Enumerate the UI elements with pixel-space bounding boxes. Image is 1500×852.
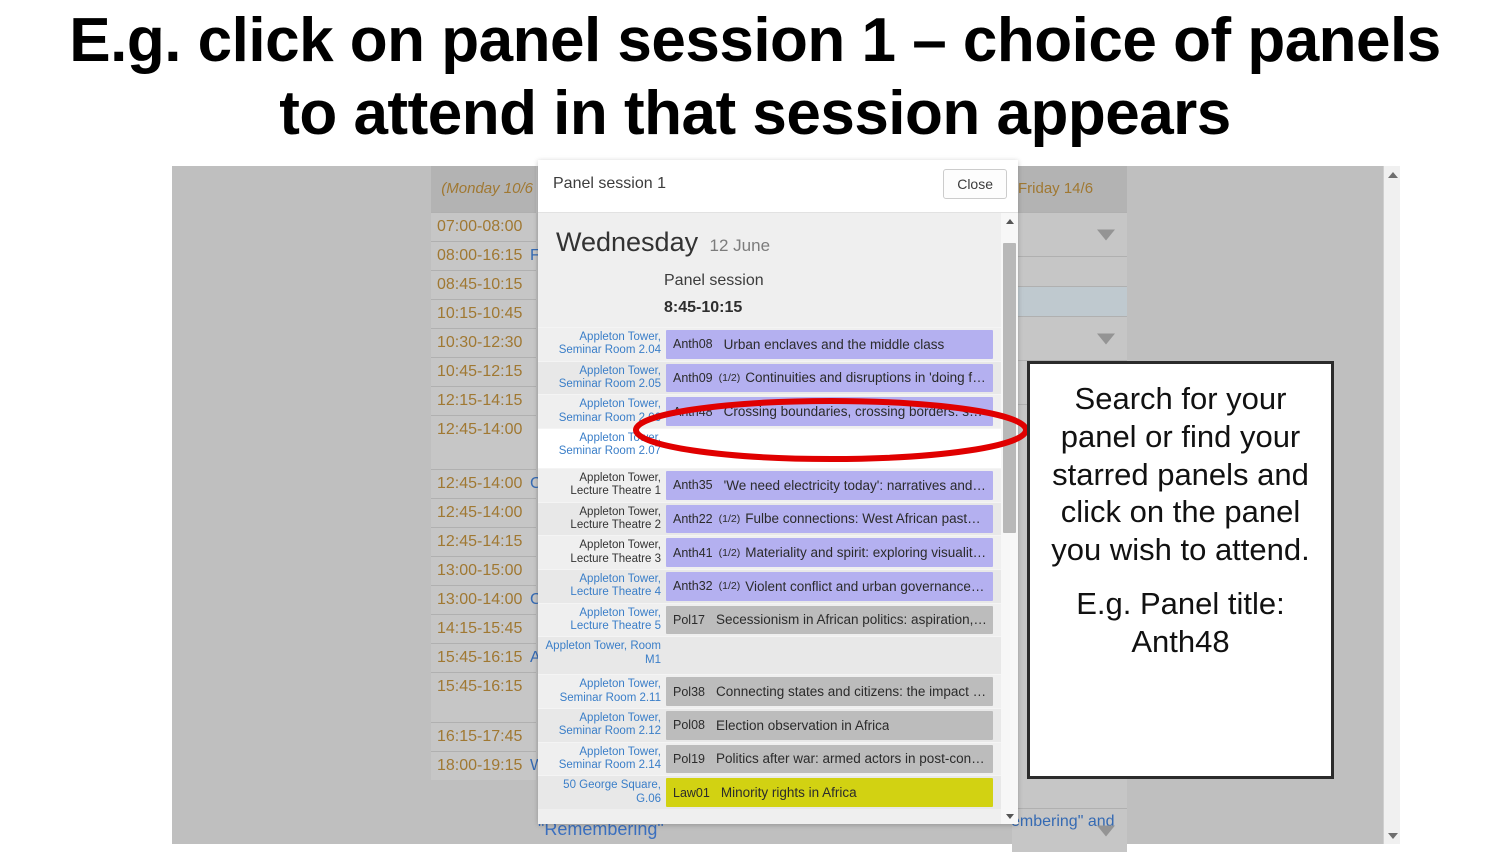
- panel-code: Anth22: [673, 512, 713, 526]
- panel-list-item[interactable]: Appleton Tower, Seminar Room 2.04 Anth08…: [538, 327, 1001, 361]
- panel-code: Pol17: [673, 613, 705, 627]
- callout-text-primary: Search for your panel or find your starr…: [1044, 380, 1317, 569]
- panel-bar[interactable]: Pol19 Politics after war: armed actors i…: [666, 745, 993, 774]
- time-slot-row[interactable]: 12:45-14:00 C: [431, 469, 536, 498]
- time-slot-label: 10:30-12:30: [437, 334, 522, 351]
- time-slot-row[interactable]: 16:15-17:45: [431, 722, 536, 751]
- panel-code: Anth08: [673, 337, 713, 351]
- day-cell[interactable]: [1012, 212, 1127, 256]
- modal-scroll-content: Wednesday 12 June Panel session 8:45-10:…: [538, 213, 1001, 824]
- panel-list-item[interactable]: Appleton Tower, Lecture Theatre 3 Anth41…: [538, 535, 1001, 569]
- panel-session-modal: Panel session 1 Close Wednesday 12 June …: [538, 160, 1018, 824]
- chevron-down-icon[interactable]: [1097, 825, 1115, 836]
- panel-bar-empty: [666, 639, 993, 672]
- day-date: 12 June: [710, 236, 771, 255]
- panel-room-link[interactable]: Appleton Tower, Lecture Theatre 4: [538, 570, 666, 603]
- time-slot-row[interactable]: 08:00-16:15 F: [431, 241, 536, 270]
- time-slot-row[interactable]: 18:00-19:15 W: [431, 751, 536, 780]
- panel-room-link[interactable]: 50 George Square, G.06: [538, 776, 666, 809]
- panel-title: Minority rights in Africa: [721, 785, 857, 800]
- time-slot-label: 16:15-17:45: [437, 728, 522, 745]
- scroll-down-icon[interactable]: [1001, 808, 1018, 824]
- time-slot-label: 18:00-19:15: [437, 757, 522, 774]
- time-slot-label: 12:45-14:15: [437, 533, 522, 550]
- time-slot-label: 12:45-14:00: [437, 421, 522, 438]
- panel-room-link[interactable]: Appleton Tower, Lecture Theatre 5: [538, 604, 666, 637]
- panel-bar-empty: [666, 431, 993, 466]
- time-slot-row[interactable]: 10:15-10:45: [431, 299, 536, 328]
- scrollbar-thumb[interactable]: [1003, 243, 1016, 533]
- time-slot-row[interactable]: 10:45-12:15: [431, 357, 536, 386]
- panel-room-link[interactable]: Appleton Tower, Seminar Room 2.12: [538, 709, 666, 742]
- panel-bar[interactable]: Anth22 (1/2) Fulbe connections: West Afr…: [666, 505, 993, 534]
- time-slot-label: 12:15-14:15: [437, 392, 522, 409]
- time-slot-label: 08:00-16:15: [437, 247, 522, 264]
- panel-room-label[interactable]: Appleton Tower, Lecture Theatre 1: [538, 469, 666, 502]
- panel-title: 'We need electricity today': narratives …: [724, 478, 987, 493]
- panel-code: Anth35: [673, 478, 713, 492]
- panel-list-item[interactable]: Appleton Tower, Seminar Room 2.14 Pol19 …: [538, 742, 1001, 776]
- panel-list-item[interactable]: Appleton Tower, Lecture Theatre 4 Anth32…: [538, 569, 1001, 603]
- day-cell[interactable]: [1012, 316, 1127, 360]
- panel-code: Anth41: [673, 546, 713, 560]
- time-slot-row[interactable]: 15:45-16:15 A: [431, 643, 536, 672]
- time-slot-label: 14:15-15:45: [437, 620, 522, 637]
- panel-bar[interactable]: Pol08 Election observation in Africa: [666, 711, 993, 740]
- panel-room-link[interactable]: Appleton Tower, Seminar Room 2.07: [538, 429, 666, 468]
- time-slot-row[interactable]: 12:45-14:00: [431, 415, 536, 469]
- panel-title: Materiality and spirit: exploring visual…: [745, 545, 987, 560]
- panel-part: (1/2): [719, 580, 741, 592]
- time-column-header: (Monday 10/6: [431, 166, 536, 212]
- modal-body: Wednesday 12 June Panel session 8:45-10:…: [538, 213, 1018, 824]
- time-slot-row[interactable]: 12:45-14:15: [431, 527, 536, 556]
- day-cell[interactable]: embering" and: [1012, 808, 1127, 852]
- panel-title: Crossing boundaries, crossing borders: s…: [724, 404, 987, 419]
- panel-list-item-highlighted[interactable]: Appleton Tower, Seminar Room 2.06 Anth48…: [538, 394, 1001, 428]
- panel-title: Continuities and disruptions in 'doing f…: [745, 370, 985, 385]
- callout-box: Search for your panel or find your starr…: [1027, 361, 1334, 779]
- callout-text-secondary: E.g. Panel title: Anth48: [1044, 585, 1317, 661]
- panel-title: Fulbe connections: West African pastor…: [745, 511, 987, 526]
- time-slot-row[interactable]: 14:15-15:45: [431, 614, 536, 643]
- panel-room-label[interactable]: Appleton Tower, Lecture Theatre 3: [538, 536, 666, 569]
- panel-bar[interactable]: Anth09 (1/2) Continuities and disruption…: [666, 364, 993, 393]
- time-slot-label: 13:00-15:00: [437, 562, 522, 579]
- panel-code: Anth48: [673, 405, 713, 419]
- panel-list-item[interactable]: Appleton Tower, Seminar Room 2.11 Pol38 …: [538, 674, 1001, 708]
- time-slot-row[interactable]: 12:15-14:15: [431, 386, 536, 415]
- panel-part: (1/2): [719, 547, 741, 559]
- modal-scrollbar[interactable]: [1001, 213, 1018, 824]
- panel-title: Election observation in Africa: [716, 718, 889, 733]
- session-type-label: Panel session: [538, 264, 1001, 290]
- panel-list-item[interactable]: 50 George Square, G.06 Law01 Minority ri…: [538, 775, 1001, 809]
- panel-list-item[interactable]: Appleton Tower, Seminar Room 2.07: [538, 428, 1001, 468]
- chevron-down-icon[interactable]: [1097, 333, 1115, 344]
- scroll-up-icon[interactable]: [1384, 166, 1401, 183]
- modal-header: Panel session 1 Close: [538, 160, 1018, 213]
- day-cell[interactable]: [1012, 286, 1127, 316]
- panel-code: Anth32: [673, 579, 713, 593]
- panel-bar[interactable]: Pol17 Secessionism in African politics: …: [666, 606, 993, 635]
- panel-code: Pol08: [673, 718, 705, 732]
- time-slot-label: 15:45-16:15: [437, 678, 522, 695]
- panel-list-item[interactable]: Appleton Tower, Room M1: [538, 636, 1001, 674]
- day-column-header: Friday 14/6: [1012, 166, 1127, 212]
- panel-code: Law01: [673, 786, 710, 800]
- panel-room-label[interactable]: Appleton Tower, Lecture Theatre 2: [538, 503, 666, 536]
- close-button[interactable]: Close: [943, 169, 1007, 199]
- panel-title: Secessionism in African politics: aspira…: [716, 612, 987, 627]
- panel-bar[interactable]: Anth41 (1/2) Materiality and spirit: exp…: [666, 538, 993, 567]
- time-slot-label: 10:45-12:15: [437, 363, 522, 380]
- panel-room-link[interactable]: Appleton Tower, Seminar Room 2.11: [538, 675, 666, 708]
- panel-bar[interactable]: Anth08 Urban enclaves and the middle cla…: [666, 330, 993, 359]
- scroll-up-icon[interactable]: [1001, 213, 1018, 229]
- time-slot-row[interactable]: 07:00-08:00: [431, 212, 536, 241]
- time-slot-row[interactable]: 10:30-12:30: [431, 328, 536, 357]
- day-heading: Wednesday 12 June: [538, 213, 1001, 264]
- panel-list-item[interactable]: Appleton Tower, Lecture Theatre 2 Anth22…: [538, 502, 1001, 536]
- time-slot-label: 12:45-14:00: [437, 504, 522, 521]
- time-slot-row[interactable]: 15:45-16:15: [431, 672, 536, 722]
- time-slot-label: 08:45-10:15: [437, 276, 522, 293]
- time-slot-row[interactable]: 12:45-14:00: [431, 498, 536, 527]
- panel-bar[interactable]: Anth48 Crossing boundaries, crossing bor…: [666, 397, 993, 426]
- time-slot-row[interactable]: 13:00-14:00 C: [431, 585, 536, 614]
- modal-title: Panel session 1: [553, 175, 666, 193]
- time-slot-label: 13:00-14:00: [437, 591, 522, 608]
- panel-list-item[interactable]: Appleton Tower, Lecture Theatre 1 Anth35…: [538, 468, 1001, 502]
- panel-title: Violent conflict and urban governance […: [745, 579, 987, 594]
- panel-list-item[interactable]: Appleton Tower, Lecture Theatre 5 Pol17 …: [538, 603, 1001, 637]
- panel-room-link[interactable]: Appleton Tower, Seminar Room 2.14: [538, 743, 666, 776]
- panel-code: Anth09: [673, 371, 713, 385]
- panel-room-link[interactable]: Appleton Tower, Seminar Room 2.06: [538, 395, 666, 428]
- time-slot-label: 07:00-08:00: [437, 218, 522, 235]
- panel-part: (1/2): [719, 513, 741, 525]
- time-slot-row[interactable]: 08:45-10:15: [431, 270, 536, 299]
- timetable-time-column: (Monday 10/6 07:00-08:00 08:00-16:15 F 0…: [431, 166, 536, 780]
- panel-bar[interactable]: Anth35 'We need electricity today': narr…: [666, 471, 993, 500]
- panel-room-link[interactable]: Appleton Tower, Room M1: [538, 637, 666, 674]
- panel-room-link[interactable]: Appleton Tower, Seminar Room 2.04: [538, 328, 666, 361]
- panel-room-link[interactable]: Appleton Tower, Seminar Room 2.05: [538, 362, 666, 395]
- panel-part: (1/2): [719, 372, 741, 384]
- panel-title: Urban enclaves and the middle class: [724, 337, 945, 352]
- panel-code: Pol38: [673, 685, 705, 699]
- panel-bar[interactable]: Law01 Minority rights in Africa: [666, 778, 993, 807]
- day-name: Wednesday: [556, 227, 698, 257]
- panel-list-item[interactable]: Appleton Tower, Seminar Room 2.12 Pol08 …: [538, 708, 1001, 742]
- time-slot-label: 12:45-14:00: [437, 475, 522, 492]
- chevron-down-icon[interactable]: [1097, 229, 1115, 240]
- session-time-label: 8:45-10:15: [538, 290, 1001, 327]
- time-slot-label: 15:45-16:15: [437, 649, 522, 666]
- page-scrollbar[interactable]: [1383, 166, 1400, 844]
- panel-bar[interactable]: Pol38 Connecting states and citizens: th…: [666, 677, 993, 706]
- time-slot-row[interactable]: 13:00-15:00: [431, 556, 536, 585]
- panel-title: Politics after war: armed actors in post…: [716, 751, 987, 766]
- panel-title: Connecting states and citizens: the impa…: [716, 684, 987, 699]
- panel-list-item[interactable]: Appleton Tower, Seminar Room 2.05 Anth09…: [538, 361, 1001, 395]
- panel-bar[interactable]: Anth32 (1/2) Violent conflict and urban …: [666, 572, 993, 601]
- time-slot-label: 10:15-10:45: [437, 305, 522, 322]
- scroll-down-icon[interactable]: [1384, 827, 1401, 844]
- page-title: E.g. click on panel session 1 – choice o…: [60, 4, 1450, 150]
- panel-code: Pol19: [673, 752, 705, 766]
- day-cell[interactable]: [1012, 256, 1127, 286]
